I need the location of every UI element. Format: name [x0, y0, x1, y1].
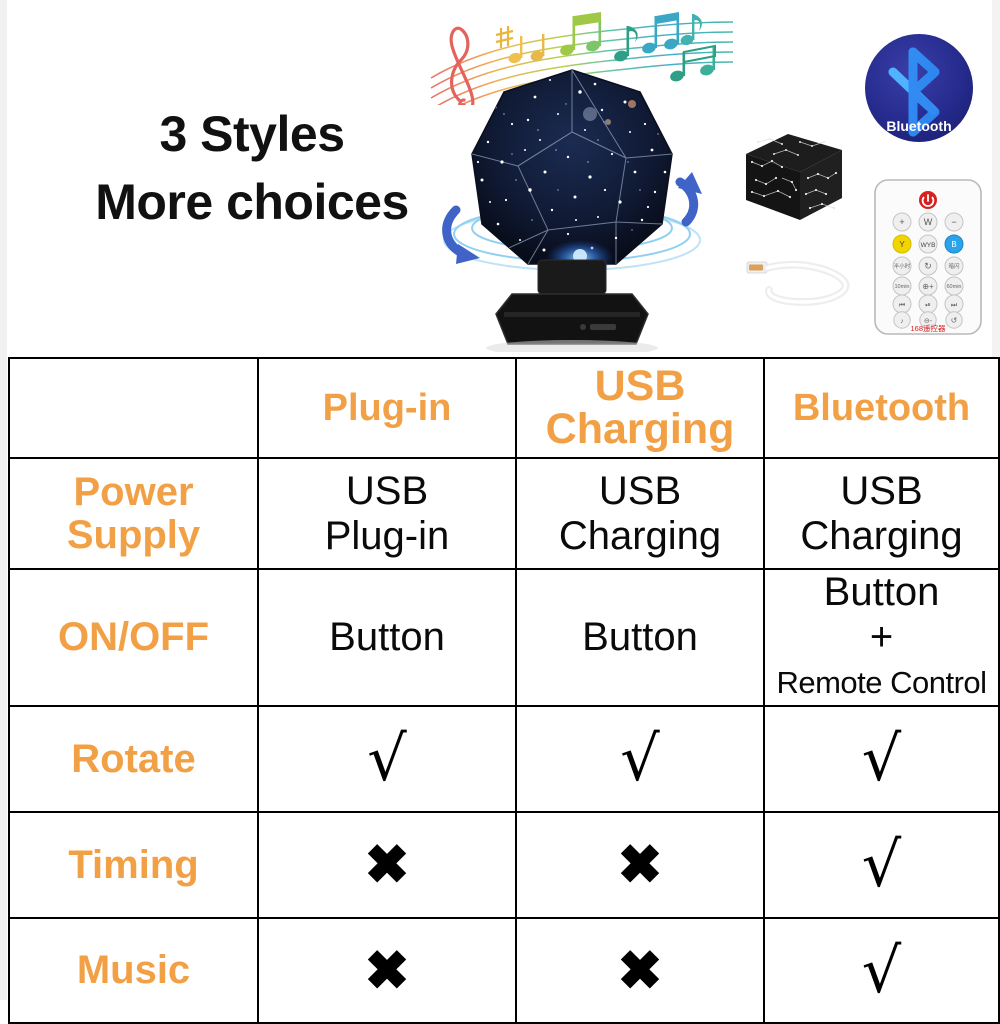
header-cell-usb-charging: USB Charging [516, 358, 764, 458]
cross-icon: ✖ [364, 944, 409, 998]
left-edge-strip [0, 0, 7, 1000]
cell-onoff-plugin: Button [258, 569, 516, 706]
cell-rotate-plugin: √ [258, 706, 516, 812]
svg-text:60min: 60min [947, 284, 962, 290]
header-cell-plugin: Plug-in [258, 358, 516, 458]
cell-timing-usb: ✖ [516, 812, 764, 918]
cell-line-2: Charging [765, 514, 998, 559]
row-label-timing: Timing [9, 812, 258, 918]
svg-text:+: + [899, 217, 904, 227]
cell-line-3: Remote Control [765, 660, 998, 705]
cell-music-bluetooth: √ [764, 918, 999, 1023]
row-label-power-supply: Power Supply [9, 458, 258, 569]
cell-music-plugin: ✖ [258, 918, 516, 1023]
cell-line-2: + [765, 615, 998, 660]
row-label-line1: Power [10, 471, 257, 514]
cell-power-usb: USB Charging [516, 458, 764, 569]
headline-line-2: More choices [52, 168, 452, 236]
table-row-power-supply: Power Supply USB Plug-in USB Charging US… [9, 458, 999, 569]
check-icon: √ [367, 728, 407, 790]
table-row-onoff: ON/OFF Button Button Button + Remote Con… [9, 569, 999, 706]
cross-icon: ✖ [364, 838, 409, 892]
table-header-row: Plug-in USB Charging Bluetooth [9, 358, 999, 458]
svg-text:♪: ♪ [900, 318, 904, 325]
header-usb-line2: Charging [517, 408, 763, 451]
constellation-gift-box [738, 128, 848, 228]
check-icon: √ [862, 940, 902, 1002]
bluetooth-badge: Bluetooth [863, 32, 975, 144]
table-row-rotate: Rotate √ √ √ [9, 706, 999, 812]
svg-text:−: − [951, 217, 956, 227]
svg-text:↻: ↻ [924, 261, 932, 271]
row-label-onoff: ON/OFF [9, 569, 258, 706]
svg-text:半小时: 半小时 [894, 262, 911, 270]
row-label-music: Music [9, 918, 258, 1023]
svg-text:↺: ↺ [951, 316, 958, 325]
cell-music-usb: ✖ [516, 918, 764, 1023]
comparison-table: Plug-in USB Charging Bluetooth Power Sup… [8, 357, 1000, 1024]
svg-text:WYB: WYB [921, 242, 936, 249]
bluetooth-badge-label: Bluetooth [886, 118, 951, 134]
headline: 3 Styles More choices [52, 100, 452, 236]
check-icon: √ [620, 728, 660, 790]
cross-icon: ✖ [617, 838, 662, 892]
cell-timing-bluetooth: √ [764, 812, 999, 918]
svg-text:⏮: ⏮ [899, 302, 905, 309]
table-row-music: Music ✖ ✖ √ [9, 918, 999, 1023]
svg-text:B: B [951, 240, 956, 249]
row-label-line2: Supply [10, 514, 257, 557]
table-row-timing: Timing ✖ ✖ √ [9, 812, 999, 918]
cell-onoff-bluetooth: Button + Remote Control [764, 569, 999, 706]
row-label-rotate: Rotate [9, 706, 258, 812]
svg-text:10min: 10min [895, 284, 910, 290]
cell-rotate-usb: √ [516, 706, 764, 812]
cross-icon: ✖ [617, 944, 662, 998]
header-cell-bluetooth: Bluetooth [764, 358, 999, 458]
usb-cable [745, 248, 860, 310]
check-icon: √ [862, 834, 902, 896]
cell-power-plugin: USB Plug-in [258, 458, 516, 569]
header-usb-line1: USB [517, 365, 763, 408]
cell-line-1: USB [259, 469, 515, 514]
cell-line-1: Button [765, 570, 998, 615]
header-cell-empty [9, 358, 258, 458]
cell-power-bluetooth: USB Charging [764, 458, 999, 569]
cell-line-1: USB [517, 469, 763, 514]
remote-footer-label: 168遥控器 [910, 323, 946, 333]
cell-onoff-usb: Button [516, 569, 764, 706]
cell-line-1: USB [765, 469, 998, 514]
svg-text:⏭: ⏭ [951, 302, 958, 309]
rotation-arrow-right [678, 172, 702, 222]
svg-text:⊕+: ⊕+ [922, 282, 934, 291]
cell-line-2: Plug-in [259, 514, 515, 559]
svg-text:W: W [924, 217, 933, 227]
cell-rotate-bluetooth: √ [764, 706, 999, 812]
star-projector-lamp [440, 62, 705, 352]
svg-text:Y: Y [899, 240, 905, 249]
cell-line-2: Charging [517, 514, 763, 559]
svg-text:⏯: ⏯ [925, 302, 931, 309]
cell-timing-plugin: ✖ [258, 812, 516, 918]
remote-control: +W− YWYB B 半小时↻暗闪 10min⊕+60min ⏮⏯⏭ ♪⊖-↺ … [872, 178, 984, 336]
check-icon: √ [862, 728, 902, 790]
svg-text:暗闪: 暗闪 [948, 262, 960, 270]
headline-line-1: 3 Styles [52, 100, 452, 168]
